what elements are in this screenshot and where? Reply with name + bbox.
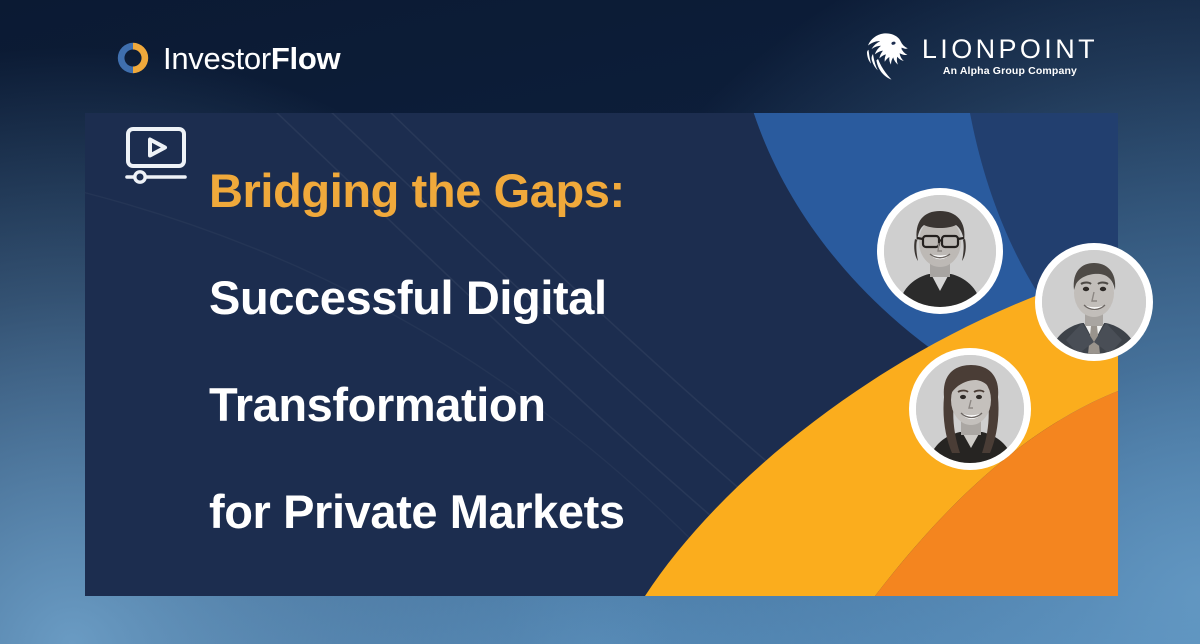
investorflow-name-bold: Flow (271, 41, 340, 76)
lion-head-icon (862, 31, 910, 81)
investorflow-name-light: Investor (163, 41, 271, 76)
title-block: Bridging the Gaps: Successful Digital Tr… (125, 110, 625, 539)
video-player-icon (125, 126, 187, 184)
lionpoint-name: LIONPOINT (922, 36, 1098, 63)
lionpoint-tagline: An Alpha Group Company (943, 66, 1077, 77)
title-line-3: Transformation (209, 378, 546, 431)
title-line-1: Bridging the Gaps: (209, 164, 625, 217)
investorflow-wordmark: InvestorFlow (163, 43, 340, 74)
speaker-portrait-2 (1042, 250, 1146, 354)
speaker-avatar-1 (877, 188, 1003, 314)
title-line-2: Successful Digital (209, 271, 607, 324)
speaker-avatar-2 (1035, 243, 1153, 361)
speaker-avatar-3 (909, 348, 1031, 470)
speaker-portrait-3 (916, 355, 1024, 463)
lionpoint-text: LIONPOINT An Alpha Group Company (922, 36, 1098, 77)
investorflow-logo[interactable]: InvestorFlow (114, 36, 340, 80)
title-line-4: for Private Markets (209, 485, 625, 538)
header-bar: InvestorFlow LIONPOINT An Alpha Group (0, 0, 1200, 113)
page-title: Bridging the Gaps: Successful Digital Tr… (209, 110, 625, 539)
investorflow-circle-mark (114, 39, 152, 77)
lionpoint-logo[interactable]: LIONPOINT An Alpha Group Company (862, 28, 1098, 84)
speaker-portrait-1 (884, 195, 996, 307)
promo-card: InvestorFlow LIONPOINT An Alpha Group (0, 0, 1200, 644)
